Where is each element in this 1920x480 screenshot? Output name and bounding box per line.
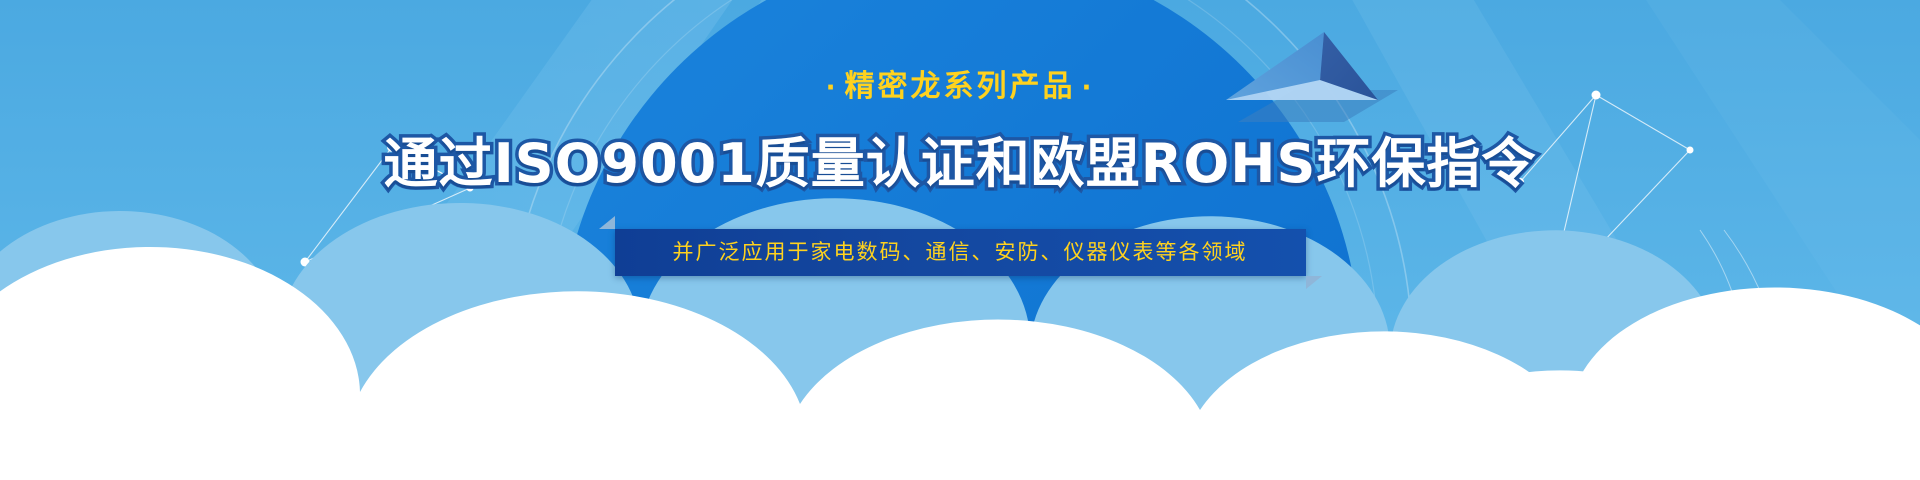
eyebrow-text: 精密龙系列产品	[845, 69, 1076, 104]
tagline-text: 并广泛应用于家电数码、通信、安防、仪器仪表等各领域	[673, 242, 1248, 263]
banner-headline: 通过ISO9001质量认证和欧盟ROHS环保指令	[384, 134, 1537, 193]
eyebrow-dot-left: ·	[820, 73, 845, 103]
banner-eyebrow: ·精密龙系列产品·	[820, 72, 1101, 102]
promo-banner: ·精密龙系列产品· 通过ISO9001质量认证和欧盟ROHS环保指令 并广泛应用…	[0, 0, 1920, 480]
tagline-ribbon: 并广泛应用于家电数码、通信、安防、仪器仪表等各领域	[615, 229, 1306, 276]
eyebrow-dot-right: ·	[1076, 73, 1101, 103]
